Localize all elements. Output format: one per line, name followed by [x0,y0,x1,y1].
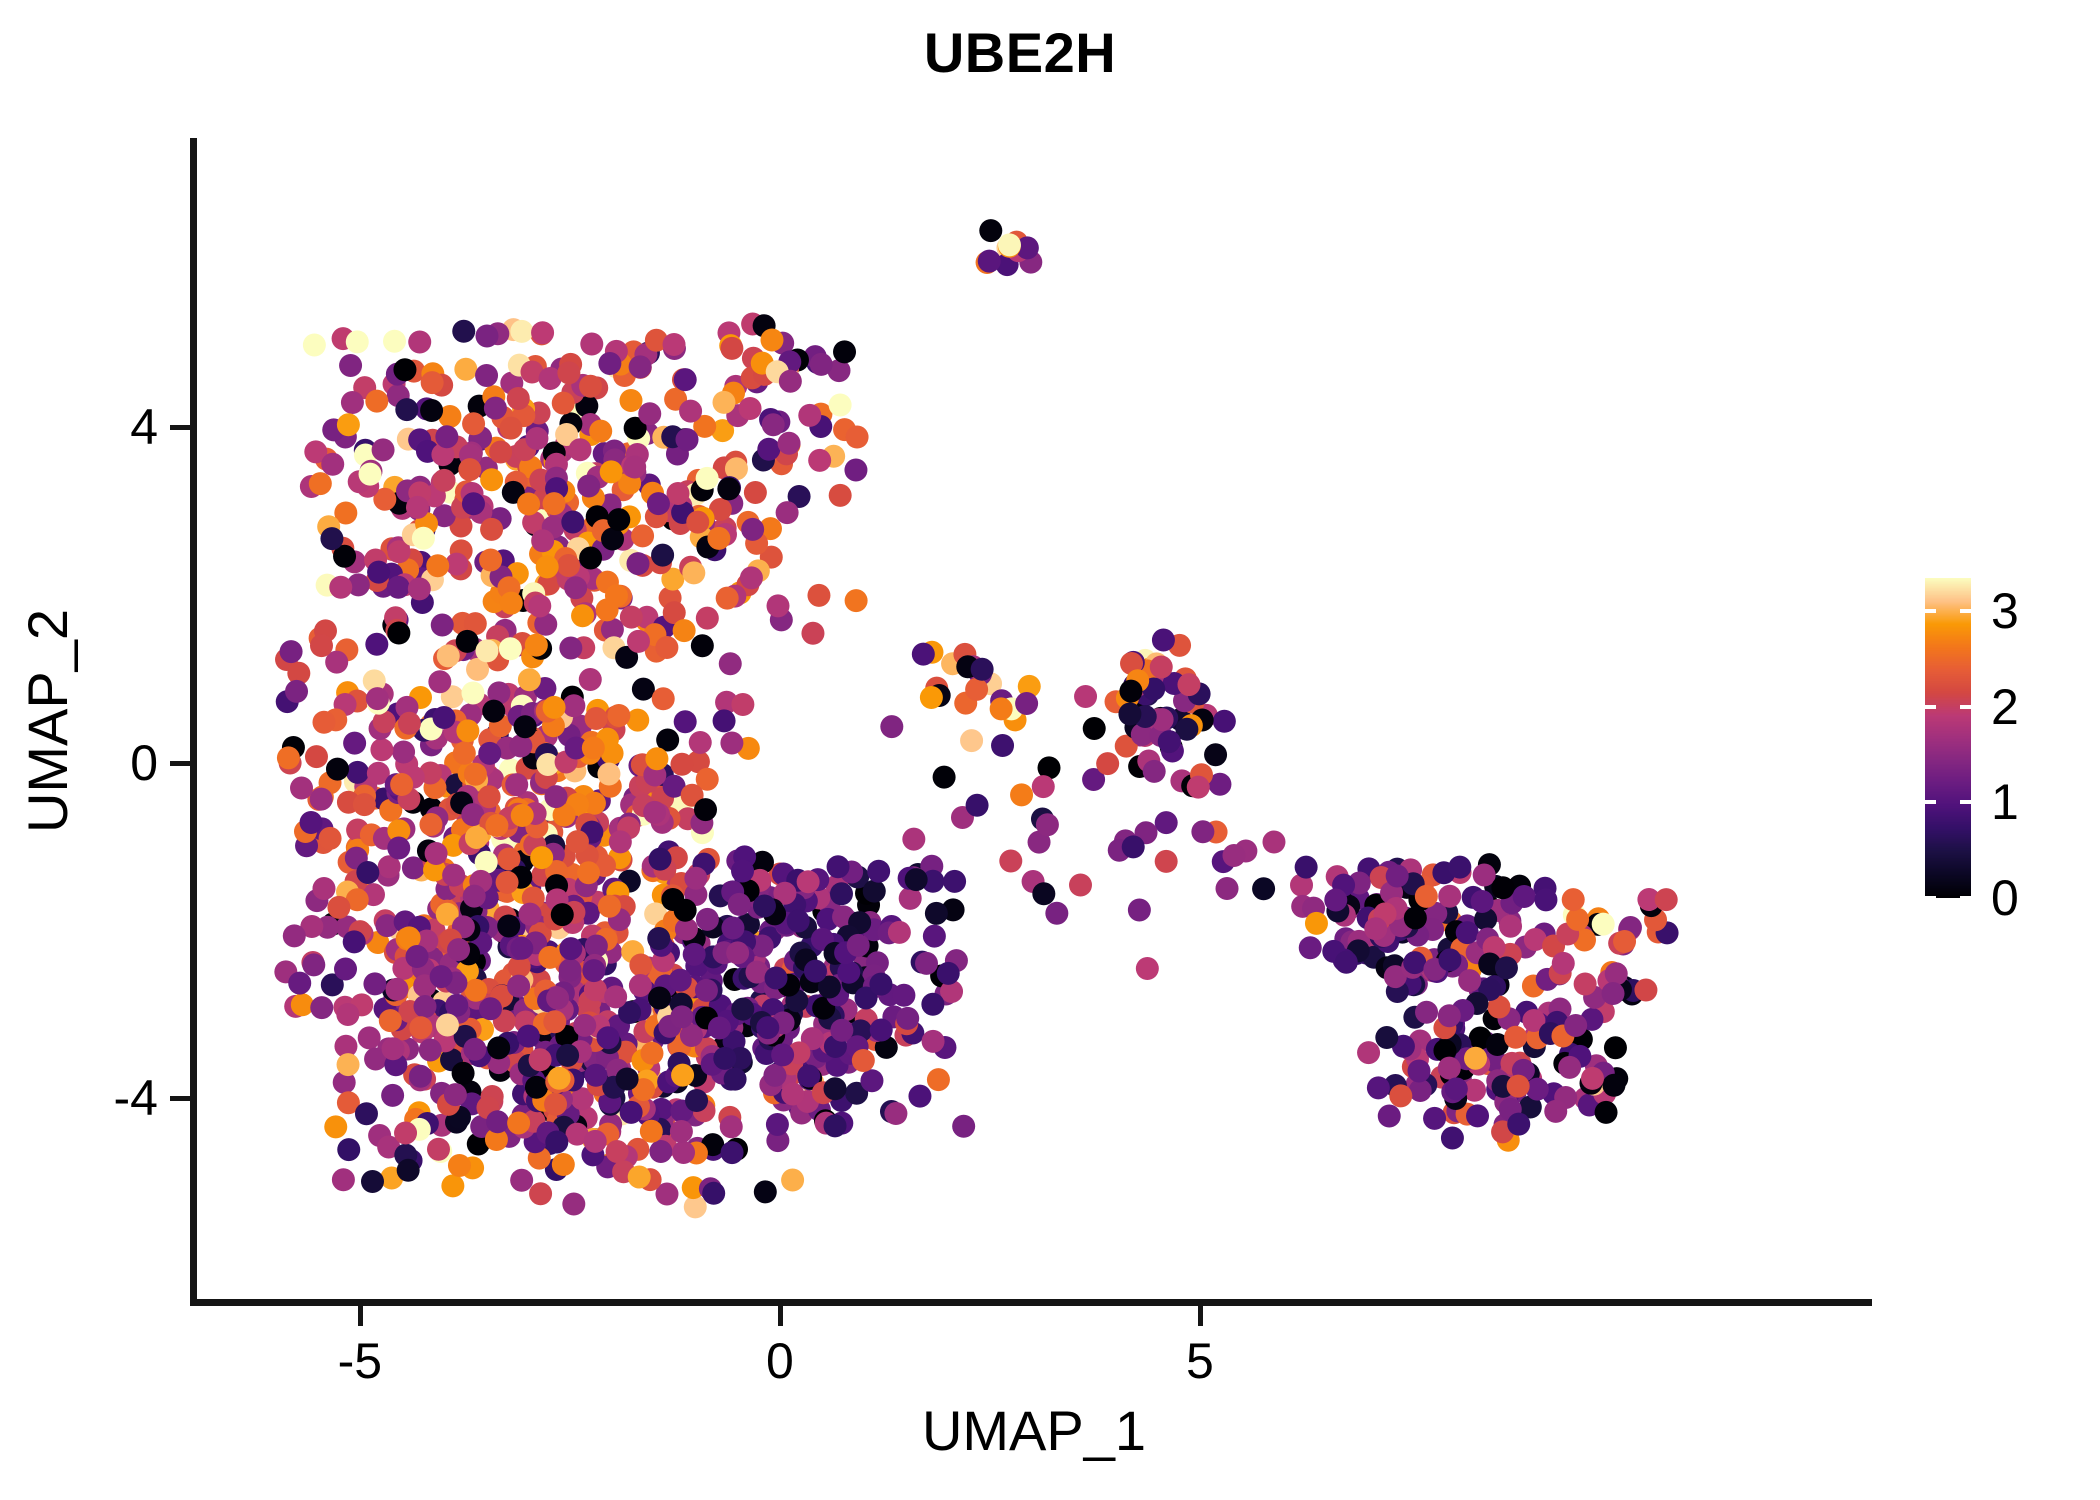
scatter-point [409,1065,432,1088]
scatter-point [480,518,503,541]
scatter-point [476,639,499,662]
scatter-point [478,785,501,808]
scatter-point [744,481,767,504]
scatter-point [571,604,594,627]
scatter-point [479,997,502,1020]
scatter-point [462,492,485,515]
scatter-point [960,729,983,752]
scatter-point [647,927,670,950]
scatter-point [480,468,503,491]
scatter-point [1155,811,1178,834]
scatter-point [310,996,333,1019]
scatter-point [392,740,415,763]
scatter-point [648,986,671,1009]
scatter-point [719,652,742,675]
scatter-point [1566,908,1589,931]
y-tick-label: -4 [114,1069,158,1127]
scatter-point [1602,982,1625,1005]
scatter-point [482,700,505,723]
y-tick-mark [170,1096,190,1101]
scatter-point [579,546,602,569]
scatter-point [336,1003,359,1026]
scatter-point [1613,930,1636,953]
y-tick-label: 4 [130,398,158,456]
scatter-point [824,1114,847,1137]
scatter-point [546,987,569,1010]
scatter-point [912,643,935,666]
scatter-point [1119,680,1142,703]
scatter-point [1386,865,1409,888]
scatter-point [731,693,754,716]
scatter-point [763,1064,786,1087]
scatter-point [990,697,1013,720]
scatter-point [309,472,332,495]
scatter-point [674,899,697,922]
scatter-point [628,1166,651,1189]
y-axis-line [190,138,197,1306]
scatter-point [507,387,530,410]
scatter-point [428,670,451,693]
scatter-point [452,1062,475,1085]
scatter-point [760,328,783,351]
scatter-point [888,921,911,944]
scatter-point [436,1014,459,1037]
scatter-point [766,1113,789,1136]
scatter-point [1364,917,1387,940]
scatter-point [1032,882,1055,905]
scatter-point [465,826,488,849]
scatter-point [1305,912,1328,935]
plot-panel [196,138,1872,1304]
scatter-point [1015,692,1038,715]
scatter-point [757,438,780,461]
scatter-point [321,453,344,476]
scatter-point [585,707,608,730]
scatter-point [1324,888,1347,911]
scatter-point [427,1138,450,1161]
scatter-point [499,417,522,440]
legend-colorbar [1925,578,1971,898]
scatter-point [845,589,868,612]
scatter-point [353,793,376,816]
scatter-point [1504,1026,1527,1049]
scatter-point [500,592,523,615]
scatter-point [343,732,366,755]
scatter-point [1464,1047,1487,1070]
scatter-point [685,1089,708,1112]
scatter-point [1213,710,1236,733]
scatter-point [536,555,559,578]
scatter-point [366,687,389,710]
scatter-point [577,475,600,498]
scatter-point [810,353,833,376]
scatter-point [597,763,620,786]
scatter-point [478,742,501,765]
scatter-point [580,333,603,356]
scatter-point [510,937,533,960]
scatter-point [334,958,357,981]
scatter-point [419,813,442,836]
scatter-point [627,630,650,653]
scatter-point [1448,856,1471,879]
scatter-point [507,975,530,998]
scatter-point [507,1112,530,1135]
scatter-point [387,622,410,645]
scatter-point [721,1141,744,1164]
scatter-point [1507,1075,1530,1098]
scatter-point [607,704,630,727]
scatter-point [398,712,421,735]
scatter-point [1150,656,1173,679]
x-tick-label: 5 [1186,1332,1214,1390]
scatter-point [518,668,541,691]
scatter-point [1408,1060,1431,1083]
scatter-point [489,441,512,464]
scatter-point [1378,1105,1401,1128]
scatter-point [562,694,585,717]
scatter-point [408,577,431,600]
scatter-point [713,1047,736,1070]
scatter-point [712,391,735,414]
scatter-point [517,1025,540,1048]
scatter-point [499,637,522,660]
scatter-point [343,930,366,953]
scatter-point [1605,962,1628,985]
scatter-point [801,622,824,645]
scatter-point [1158,730,1181,753]
scatter-point [720,337,743,360]
scatter-point [324,1115,347,1138]
scatter-point [966,794,989,817]
scatter-point [548,1067,571,1090]
scatter-point [510,320,533,343]
scatter-point [525,634,548,657]
scatter-point [691,634,714,657]
scatter-point [497,914,520,937]
x-tick-label: -5 [338,1332,382,1390]
scatter-point [623,456,646,479]
scatter-point [991,734,1014,757]
scatter-point [626,552,649,575]
scatter-point [337,1138,360,1161]
scatter-point [337,413,360,436]
scatter-point [1032,775,1055,798]
scatter-point [781,1169,804,1192]
scatter-point [1438,1057,1461,1080]
scatter-point [414,995,437,1018]
scatter-point [798,404,821,427]
scatter-point [696,607,719,630]
scatter-point [452,320,475,343]
scatter-point [720,731,743,754]
scatter-point [277,746,300,769]
scatter-point [632,678,655,701]
scatter-point [525,1076,548,1099]
scatter-point [332,1168,355,1191]
scatter-point [487,1036,510,1059]
scatter-point [1404,906,1427,929]
scatter-point [1335,951,1358,974]
scatter-point [552,1153,575,1176]
scatter-point [629,954,652,977]
scatter-point [629,974,652,997]
scatter-point [566,830,589,853]
scatter-point [655,636,678,659]
scatter-point [387,576,410,599]
scatter-point [663,333,686,356]
scatter-point [833,340,856,363]
scatter-point [290,777,313,800]
scatter-point [892,984,915,1007]
scatter-point [808,449,831,472]
scatter-point [464,979,487,1002]
scatter-point [285,680,308,703]
legend-tick-label: 0 [1991,869,2019,927]
scatter-point [1458,969,1481,992]
scatter-point [1222,844,1245,867]
legend-tick-mark [1925,705,1936,709]
scatter-point [753,895,776,918]
scatter-point [327,896,350,919]
scatter-point [720,1115,743,1138]
scatter-point [441,1174,464,1197]
scatter-point [1495,956,1518,979]
scatter-point [426,554,449,577]
scatter-point [454,358,477,381]
scatter-point [923,925,946,948]
scatter-point [505,773,528,796]
scatter-point [869,973,892,996]
scatter-point [1562,888,1585,911]
scatter-point [927,1068,950,1091]
scatter-point [606,1140,629,1163]
scatter-point [1552,952,1575,975]
scatter-point [597,1026,620,1049]
scatter-point [529,1182,552,1205]
scatter-point [1403,951,1426,974]
scatter-point [721,917,744,940]
scatter-point [517,492,540,515]
scatter-point [870,1019,893,1042]
scatter-point [339,354,362,377]
scatter-point [433,469,456,492]
scatter-point [408,330,431,353]
scatter-point [543,492,566,515]
scatter-point [464,763,487,786]
scatter-point [1036,813,1059,836]
scatter-point [670,1005,693,1028]
scatter-point [582,736,605,759]
scatter-point [302,953,325,976]
scatter-point [1295,856,1318,879]
legend-tick-label: 3 [1991,582,2019,640]
scatter-point [356,861,379,884]
scatter-point [631,524,654,547]
scatter-point [596,598,619,621]
scatter-point [442,864,465,887]
scatter-point [829,484,852,507]
scatter-point [619,389,642,412]
scatter-points-layer [196,138,1872,1304]
scatter-point [1581,1067,1604,1090]
scatter-point [1513,885,1536,908]
scatter-point [679,400,702,423]
scatter-point [355,1102,378,1125]
scatter-point [651,544,674,567]
scatter-point [1299,936,1322,959]
scatter-point [359,463,382,486]
scatter-point [475,364,498,387]
x-tick-mark [358,1306,363,1326]
scatter-point [456,630,479,653]
scatter-point [561,511,584,534]
scatter-point [544,1093,567,1116]
scatter-point [518,903,541,926]
scatter-point [674,710,697,733]
scatter-point [485,814,508,837]
scatter-point [880,715,903,738]
scatter-point [652,687,675,710]
scatter-point [365,633,388,656]
scatter-point [346,761,369,784]
scatter-point [902,828,925,851]
scatter-point [640,1120,663,1143]
scatter-point [573,1014,596,1037]
scatter-point [584,1130,607,1153]
scatter-point [531,529,554,552]
scatter-point [765,967,788,990]
scatter-point [280,640,303,663]
scatter-point [771,1043,794,1066]
scatter-point [1491,876,1514,899]
scatter-point [445,994,468,1017]
scatter-point [528,594,551,617]
scatter-point [387,836,410,859]
scatter-point [395,398,418,421]
scatter-point [739,397,762,420]
scatter-point [514,715,537,738]
scatter-point [998,233,1021,256]
scatter-point [577,861,600,884]
scatter-point [320,527,343,550]
scatter-point [582,959,605,982]
scatter-point [447,938,470,961]
scatter-point [1187,776,1210,799]
scatter-point [1143,760,1166,783]
scatter-point [372,438,395,461]
scatter-point [1252,877,1275,900]
scatter-point [310,788,333,811]
color-legend: 3210 [1925,578,2090,903]
legend-tick-mark [1960,609,1971,613]
scatter-point [329,576,352,599]
scatter-point [647,492,670,515]
scatter-point [667,482,690,505]
x-tick-mark [1198,1306,1203,1326]
scatter-point [649,1140,672,1163]
scatter-point [358,1026,381,1049]
scatter-point [544,785,567,808]
scatter-point [419,1038,442,1061]
scatter-point [1128,899,1151,922]
scatter-point [393,358,416,381]
scatter-point [731,860,754,883]
scatter-point [905,868,928,891]
scatter-point [827,855,850,878]
legend-tick-label: 1 [1991,773,2019,831]
scatter-point [579,668,602,691]
scatter-point [589,420,612,443]
scatter-point [852,1049,875,1072]
scatter-point [1122,835,1145,858]
scatter-point [804,960,827,983]
scatter-point [670,1120,693,1143]
scatter-point [598,895,621,918]
scatter-point [1574,972,1597,995]
scatter-point [1177,673,1200,696]
scatter-point [696,467,719,490]
scatter-point [1375,1026,1398,1049]
scatter-point [629,355,652,378]
scatter-point [686,511,709,534]
scatter-point [538,946,561,969]
scatter-point [1499,915,1522,938]
scatter-point [863,880,886,903]
scatter-point [381,1084,404,1107]
y-tick-mark [170,425,190,430]
legend-tick-mark [1925,609,1936,613]
scatter-point [303,334,326,357]
scatter-point [925,902,948,925]
scatter-point [1471,890,1494,913]
scatter-point [379,1009,402,1032]
scatter-point [669,969,692,992]
scatter-point [1473,864,1496,887]
scatter-point [600,460,623,483]
legend-tick-mark [1960,705,1971,709]
scatter-point [545,1131,568,1154]
scatter-point [702,1182,725,1205]
scatter-point [674,368,697,391]
scatter-point [921,993,944,1016]
scatter-point [431,614,454,637]
scatter-point [1155,850,1178,873]
scatter-point [999,850,1022,873]
scatter-point [437,644,460,667]
scatter-point [486,1110,509,1133]
scatter-point [1438,948,1461,971]
legend-tick-mark [1960,896,1971,900]
scatter-point [530,846,553,869]
scatter-point [867,860,890,883]
scatter-point [754,1180,777,1203]
scatter-point [529,1048,552,1071]
scatter-point [1564,1014,1587,1037]
scatter-point [496,871,519,894]
scatter-point [683,943,706,966]
scatter-point [724,1068,747,1091]
scatter-point [1466,1104,1489,1127]
scatter-point [367,561,390,584]
scatter-point [1367,1076,1390,1099]
scatter-point [361,1170,384,1193]
scatter-point [288,972,311,995]
scatter-point [707,527,730,550]
scatter-point [829,394,852,417]
scatter-point [920,686,943,709]
scatter-point [564,576,587,599]
scatter-point [479,549,502,572]
